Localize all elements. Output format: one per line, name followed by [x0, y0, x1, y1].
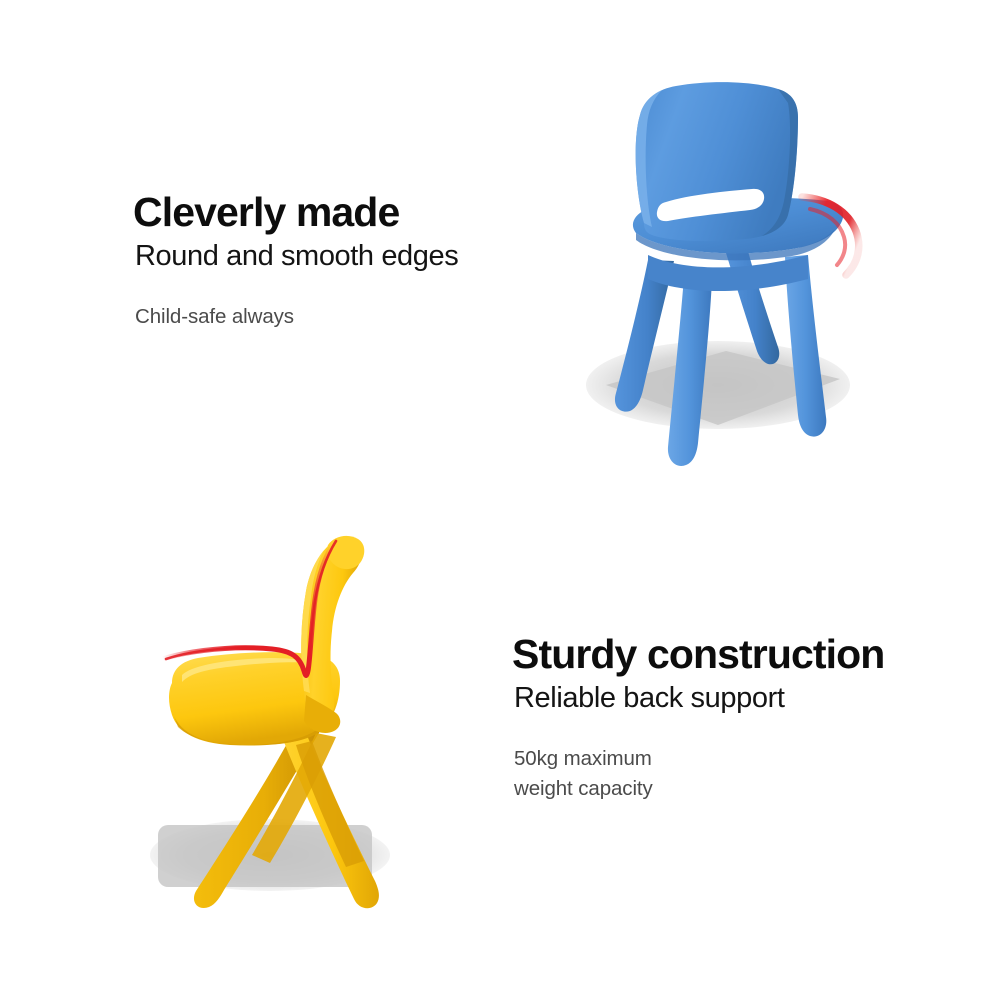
feature-block-cleverly-made: Cleverly made Round and smooth edges Chi…: [133, 192, 458, 332]
sturdy-construction-body: 50kg maximum weight capacity: [514, 744, 884, 802]
cleverly-made-body: Child-safe always: [135, 302, 458, 331]
yellow-chair-figure: [120, 515, 440, 915]
product-feature-image: Cleverly made Round and smooth edges Chi…: [0, 0, 1000, 1000]
cleverly-made-subhead: Round and smooth edges: [135, 240, 458, 272]
blue-chair-figure: [540, 55, 900, 465]
blue-chair-apron: [648, 255, 808, 291]
sturdy-construction-headline: Sturdy construction: [512, 634, 884, 675]
sturdy-construction-subhead: Reliable back support: [514, 682, 884, 714]
cleverly-made-headline: Cleverly made: [133, 192, 458, 233]
feature-block-sturdy-construction: Sturdy construction Reliable back suppor…: [512, 634, 884, 803]
